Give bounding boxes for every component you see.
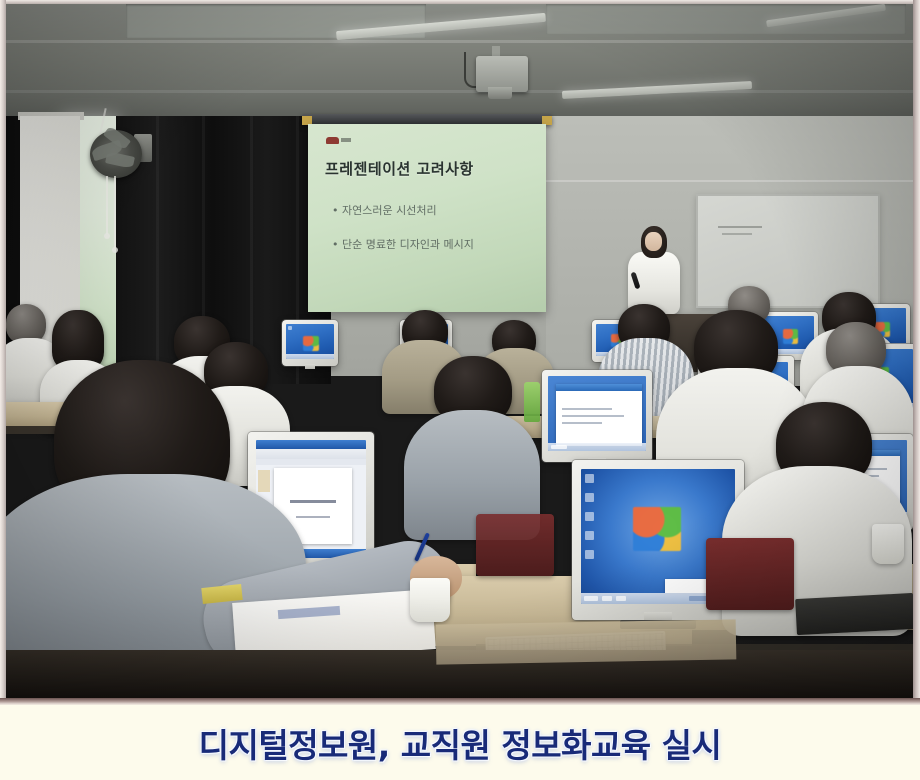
fan-pull-cord	[114, 176, 116, 248]
caption-area: 디지털정보원, 교직원 정보화교육 실시	[0, 705, 920, 780]
desk-surface-lower	[436, 619, 737, 664]
chair-back	[476, 514, 554, 576]
slide-title: 프레젠테이션 고려사항	[325, 158, 474, 179]
chair-back	[706, 538, 794, 610]
slide-bullet-1: • 자연스러운 시선처리	[332, 202, 437, 218]
fan-blade	[105, 151, 135, 169]
monitor-mid-center	[542, 370, 652, 462]
ceiling-seam	[6, 90, 913, 93]
keyboard	[795, 593, 913, 635]
paper-cup	[872, 524, 904, 564]
slide-bullet-2: • 단순 명료한 디자인과 메시지	[332, 236, 474, 252]
monitor-back-left	[282, 320, 338, 366]
ceiling-seam	[6, 40, 913, 43]
classroom-photo: 프레젠테이션 고려사항 • 자연스러운 시선처리 • 단순 명료한 디자인과 메…	[6, 4, 913, 700]
news-photo-page: 프레젠테이션 고려사항 • 자연스러운 시선처리 • 단순 명료한 디자인과 메…	[0, 0, 920, 780]
fan-pull-cord	[106, 176, 108, 234]
whiteboard-writing	[722, 233, 752, 235]
water-bottle	[524, 382, 540, 422]
instructor-face	[645, 232, 662, 251]
slide-logo-icon	[326, 136, 352, 145]
photo-caption: 디지털정보원, 교직원 정보화교육 실시	[199, 719, 722, 767]
whiteboard	[696, 194, 880, 308]
wall-trim-line	[546, 180, 913, 182]
ceiling-projector	[476, 56, 528, 92]
whiteboard-writing	[718, 226, 762, 228]
frame-right-border	[913, 0, 920, 704]
wall-fan	[90, 130, 142, 178]
curtain-fold	[156, 116, 159, 384]
paper-cup	[410, 578, 450, 622]
projection-screen: 프레젠테이션 고려사항 • 자연스러운 시선처리 • 단순 명료한 디자인과 메…	[308, 124, 546, 312]
